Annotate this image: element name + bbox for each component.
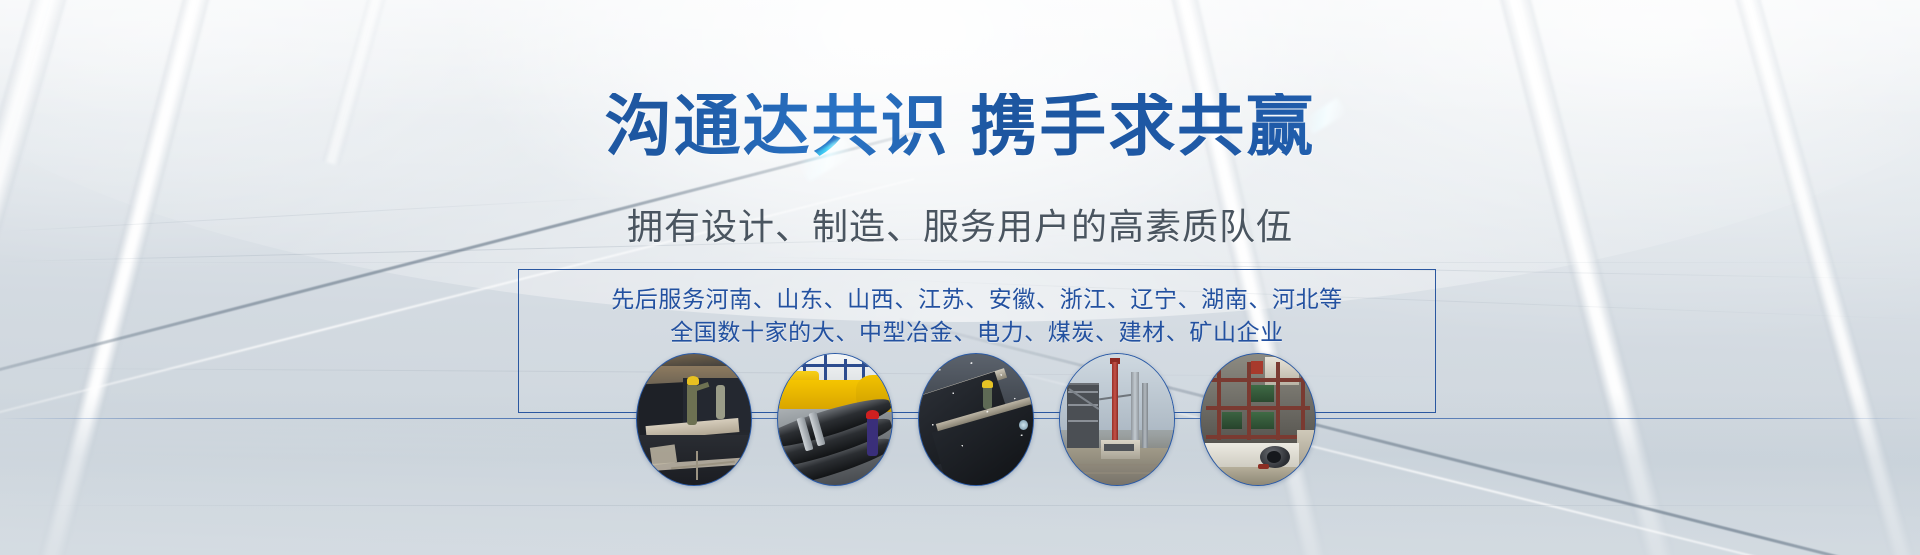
- tank-lining-installation-photo[interactable]: [636, 353, 752, 486]
- photo-detail: [1301, 364, 1305, 437]
- banner-headline: 沟通达共识 携手求共赢: [0, 93, 1920, 160]
- photo-detail: [1222, 412, 1243, 429]
- photo-detail: [866, 410, 879, 419]
- photo-detail: [1142, 383, 1148, 451]
- photo-detail: [1206, 435, 1311, 439]
- photo-detail: [1251, 412, 1274, 429]
- photo-detail: [799, 364, 870, 367]
- photo-detail: [1068, 420, 1098, 422]
- thumbnail-strip: [636, 352, 1316, 487]
- photo-detail: [1131, 372, 1139, 451]
- service-scope-line-1: 先后服务河南、山东、山西、江苏、安徽、浙江、辽宁、湖南、河北等: [518, 283, 1436, 316]
- photo-detail: [1060, 472, 1174, 474]
- service-scope-line-2: 全国数十家的大、中型冶金、电力、煤炭、建材、矿山企业: [518, 316, 1436, 349]
- photo-detail: [1201, 467, 1315, 485]
- photo-detail: [1247, 362, 1251, 441]
- banner-content: 沟通达共识 携手求共赢 拥有设计、制造、服务用户的高素质队伍 先后服务河南、山东…: [0, 0, 1920, 555]
- photo-detail: [1206, 406, 1311, 410]
- hero-banner: 沟通达共识 携手求共赢 拥有设计、制造、服务用户的高素质队伍 先后服务河南、山东…: [0, 0, 1920, 555]
- photo-detail: [1276, 362, 1280, 441]
- workshop-interior-racks-photo[interactable]: [1200, 353, 1316, 486]
- photo-detail: [1297, 430, 1315, 469]
- yellow-machinery-pipes-photo[interactable]: [777, 353, 893, 486]
- photo-detail: [1267, 451, 1281, 463]
- photo-detail: [1258, 464, 1269, 469]
- service-scope-text: 先后服务河南、山东、山西、江苏、安徽、浙江、辽宁、湖南、河北等 全国数十家的大、…: [518, 283, 1436, 349]
- banner-subheadline: 拥有设计、制造、服务用户的高素质队伍: [0, 198, 1920, 250]
- photo-detail: [1251, 385, 1274, 402]
- photo-detail: [1251, 361, 1262, 374]
- photo-detail: [919, 354, 1033, 485]
- wear-resistant-panel-lifting-photo[interactable]: [918, 353, 1034, 486]
- photo-detail: [1104, 444, 1134, 451]
- photo-detail: [696, 451, 698, 480]
- photo-detail: [1217, 364, 1221, 440]
- photo-detail: [650, 444, 677, 466]
- photo-detail: [1206, 378, 1311, 382]
- photo-detail: [1060, 464, 1174, 466]
- photo-detail: [867, 417, 878, 456]
- photo-detail: [687, 376, 700, 385]
- industrial-plant-construction-photo[interactable]: [1059, 353, 1175, 486]
- photo-detail: [716, 385, 725, 419]
